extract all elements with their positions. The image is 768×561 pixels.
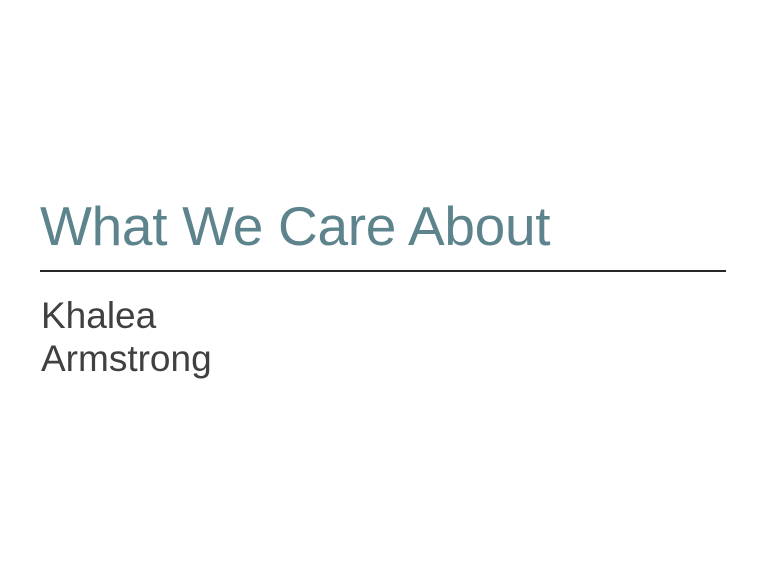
- presentation-slide: What We Care About Khalea Armstrong: [0, 0, 768, 561]
- title-block: What We Care About: [40, 196, 728, 272]
- subtitle-line-first-name: Khalea: [41, 294, 541, 337]
- subtitle-line-last-name: Armstrong: [41, 337, 541, 380]
- subtitle-block: Khalea Armstrong: [41, 294, 541, 380]
- title-divider: [40, 270, 726, 272]
- page-title: What We Care About: [40, 196, 728, 258]
